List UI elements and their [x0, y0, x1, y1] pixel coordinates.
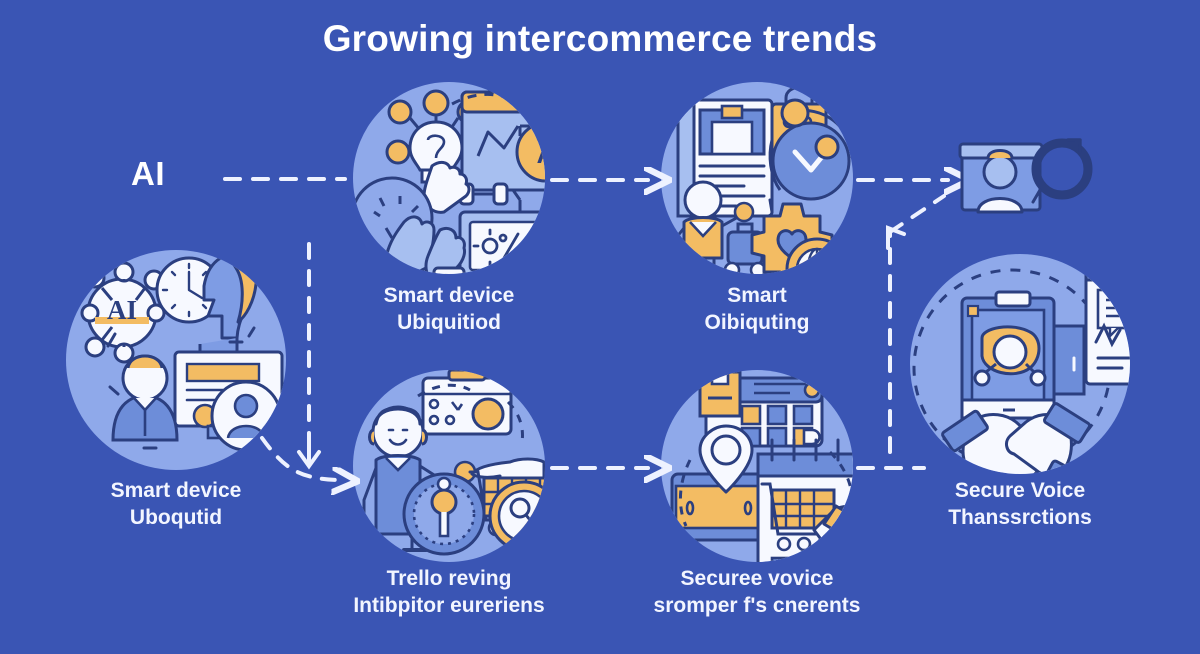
node-label-top-right-line1: Smart — [727, 284, 787, 307]
node-label-top-right: Smart Oibiquting — [617, 283, 897, 337]
node-label-left-line2: Uboqutid — [36, 505, 316, 532]
node-label-left-line1: Smart device — [111, 479, 242, 502]
node-right[interactable] — [910, 254, 1130, 474]
node-label-top-right-line2: Oibiquting — [617, 310, 897, 337]
node-bottom-right[interactable] — [661, 370, 853, 562]
arrow-left-circle-curve — [262, 438, 336, 480]
node-label-top-left-line1: Smart device — [384, 284, 515, 307]
node-label-bottom-right-line2: sromper f's cnerents — [617, 593, 897, 620]
node-left[interactable] — [66, 250, 286, 470]
node-label-bottom-right-line1: Securee vovice — [681, 567, 834, 590]
ai-tag-label: AI — [131, 155, 165, 193]
node-label-bottom-left: Trello reving Intibpitor eureriens — [309, 566, 589, 620]
node-label-top-left: Smart device Ubiquitiod — [309, 283, 589, 337]
node-label-top-left-line2: Ubiquitiod — [309, 310, 589, 337]
infographic-canvas: AI — [0, 0, 1200, 654]
page-title: Growing intercommerce trends — [0, 18, 1200, 60]
node-label-bottom-left-line1: Trello reving — [387, 567, 512, 590]
node-label-bottom-left-line2: Intibpitor eureriens — [309, 593, 589, 620]
node-top-right[interactable] — [661, 82, 853, 274]
node-top-left[interactable] — [353, 82, 545, 274]
node-label-bottom-right: Securee vovice sromper f's cnerents — [617, 566, 897, 620]
svg-text:TA: TA — [1147, 284, 1181, 314]
arrow-right-column-diag — [890, 196, 944, 232]
node-label-right-line2: Thanssrctions — [880, 505, 1160, 532]
node-label-right: Secure Voice Thanssrctions — [880, 478, 1160, 532]
user-refresh-icon — [960, 140, 1088, 212]
node-label-left: Smart device Uboqutid — [36, 478, 316, 532]
node-bottom-left[interactable] — [353, 370, 545, 562]
arrow-right-column-head — [888, 228, 904, 248]
node-label-right-line1: Secure Voice — [955, 479, 1085, 502]
